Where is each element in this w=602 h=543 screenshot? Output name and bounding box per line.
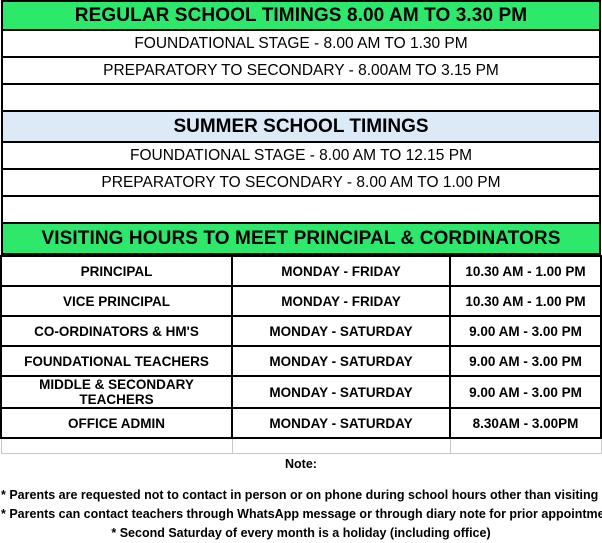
regular-foundational-row: FOUNDATIONAL STAGE - 8.00 AM TO 1.30 PM [1,31,601,58]
regular-preparatory-row: PREPARATORY TO SECONDARY - 8.00AM TO 3.1… [1,58,601,85]
time-cell: 10.30 AM - 1.00 PM [450,256,601,286]
role-cell [1,438,232,453]
notes-title: Note: [1,454,601,472]
visiting-hours-banner: VISITING HOURS TO MEET PRINCIPAL & CORDI… [1,224,601,255]
role-cell: CO-ORDINATORS & HM'S [1,316,232,346]
notes-spacer [1,472,601,486]
role-cell: MIDDLE & SECONDARY TEACHERS [1,376,232,408]
timings-sheet: REGULAR SCHOOL TIMINGS 8.00 AM TO 3.30 P… [0,0,602,504]
time-cell: 9.00 AM - 3.00 PM [450,316,601,346]
role-cell: OFFICE ADMIN [1,408,232,438]
time-cell: 9.00 AM - 3.00 PM [450,376,601,408]
regular-timings-banner: REGULAR SCHOOL TIMINGS 8.00 AM TO 3.30 P… [1,0,601,31]
days-cell: MONDAY - SATURDAY [232,346,450,376]
time-cell [450,438,601,453]
note-line-1: * Parents are requested not to contact i… [1,486,601,505]
note-line-2: * Parents can contact teachers through W… [1,505,601,524]
days-cell: MONDAY - FRIDAY [232,256,450,286]
time-cell: 9.00 AM - 3.00 PM [450,346,601,376]
table-row: FOUNDATIONAL TEACHERS MONDAY - SATURDAY … [1,346,601,376]
note-line-3: * Second Saturday of every month is a ho… [1,524,601,543]
notes-section: Note: * Parents are requested not to con… [1,454,601,543]
table-row: VICE PRINCIPAL MONDAY - FRIDAY 10.30 AM … [1,286,601,316]
days-cell: MONDAY - FRIDAY [232,286,450,316]
time-cell: 10.30 AM - 1.00 PM [450,286,601,316]
time-cell: 8.30AM - 3.00PM [450,408,601,438]
summer-blank-row [1,197,601,224]
role-cell: PRINCIPAL [1,256,232,286]
table-row: CO-ORDINATORS & HM'S MONDAY - SATURDAY 9… [1,316,601,346]
table-row: MIDDLE & SECONDARY TEACHERS MONDAY - SAT… [1,376,601,408]
table-row: OFFICE ADMIN MONDAY - SATURDAY 8.30AM - … [1,408,601,438]
role-cell: FOUNDATIONAL TEACHERS [1,346,232,376]
days-cell: MONDAY - SATURDAY [232,376,450,408]
days-cell: MONDAY - SATURDAY [232,408,450,438]
summer-foundational-row: FOUNDATIONAL STAGE - 8.00 AM TO 12.15 PM [1,143,601,170]
visiting-hours-table: PRINCIPAL MONDAY - FRIDAY 10.30 AM - 1.0… [0,255,602,454]
table-row: PRINCIPAL MONDAY - FRIDAY 10.30 AM - 1.0… [1,256,601,286]
table-row-blank [1,438,601,453]
days-cell: MONDAY - SATURDAY [232,316,450,346]
summer-timings-banner: SUMMER SCHOOL TIMINGS [1,112,601,143]
regular-blank-row [1,85,601,112]
days-cell [232,438,450,453]
summer-preparatory-row: PREPARATORY TO SECONDARY - 8.00 AM TO 1.… [1,170,601,197]
role-cell: VICE PRINCIPAL [1,286,232,316]
